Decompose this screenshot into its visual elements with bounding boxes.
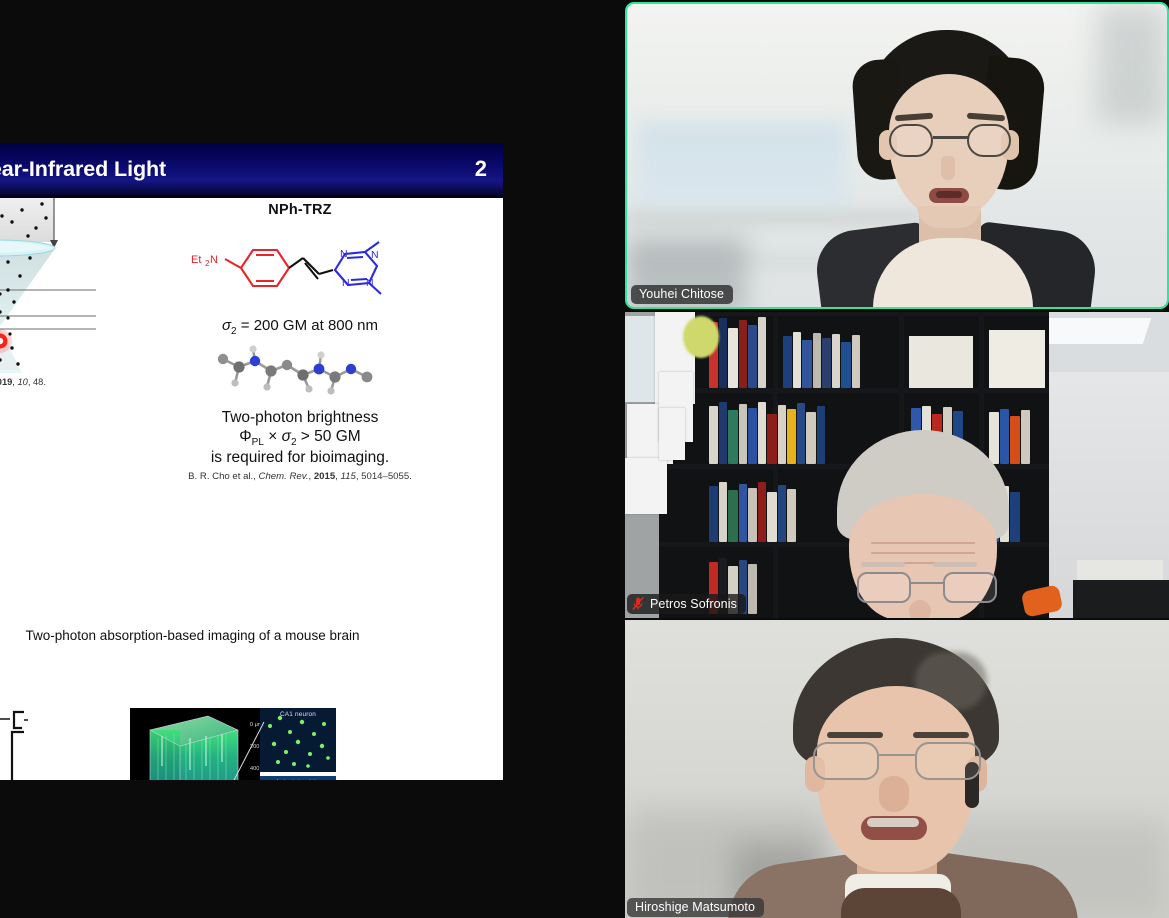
participant-tile-youhei-chitose[interactable]: Youhei Chitose [625,2,1169,309]
panel-label: Apical dendrite [260,779,336,780]
svg-text:N: N [366,277,374,289]
person-figure [765,638,1033,918]
video-feed [625,312,1169,618]
mic-muted-icon [631,596,645,611]
donor-group-label: Et [191,254,201,266]
svg-text:N: N [342,277,350,289]
one-photon-note: Observable area with one-photon absorpti… [0,718,2,780]
presentation-slide[interactable]: patible Near-Infrared Light 2 [0,143,503,780]
molecule-name: NPh-TRZ [110,202,490,218]
lens-citation: C. R Ellis-Davies et al., nt. Synaptic N… [0,365,46,388]
person-figure [837,430,1009,618]
brain-detail-panels: CA1 neuron Apical dend [260,708,336,780]
lens-citation-line1: C. R Ellis-Davies et al., [0,365,46,377]
panel-apical-dendrite: Apical dendrite [260,776,336,780]
slide-header: patible Near-Infrared Light 2 [0,143,503,195]
participant-name: Hiroshige Matsumoto [635,900,755,914]
slide-title: patible Near-Infrared Light [0,157,166,182]
slide-body: lens Photons (hv) Focal plane C. R Ellis… [0,198,503,780]
molecule-ballstick-model [205,341,395,405]
participant-name-badge: Hiroshige Matsumoto [627,898,764,917]
brightness-requirement: is required for bioimaging. [110,449,490,468]
panel-label: CA1 neuron [260,711,336,718]
glasses [885,124,1017,158]
molecule-citation: B. R. Cho et al., Chem. Rev., 2015, 115,… [110,471,490,482]
participant-video-strip: Youhei Chitose [625,0,1169,918]
svg-text:N: N [371,249,379,261]
participant-name-badge: Petros Sofronis [627,594,746,614]
participant-name: Petros Sofronis [650,597,737,611]
video-feed [627,4,1167,307]
participant-tile-petros-sofronis[interactable]: Petros Sofronis [625,312,1169,618]
screen-share-area[interactable]: patible Near-Infrared Light 2 [0,0,620,918]
brain-figure: Observable area with one-photon absorpti… [0,656,503,780]
lens-citation-line2: nt. Synaptic Neurosci., 2019, 10, 48. [0,377,46,389]
lens-photon-diagram: lens Photons (hv) Focal plane C. R Ellis… [0,198,106,398]
cross-section-line: σ2 = 200 GM at 800 nm [110,317,490,337]
wall-papers [625,312,729,542]
svg-text:N: N [210,254,218,266]
brain-section-title: Two-photon absorption-based imaging of a… [0,628,503,643]
brightness-title: Two-photon brightness [110,409,490,428]
participant-tile-hiroshige-matsumoto[interactable]: Hiroshige Matsumoto [625,620,1169,918]
cross-section-wavelength: 800 nm [328,317,378,334]
bracket-leader-1 [0,716,10,722]
video-feed [625,620,1169,918]
zoom-meeting-window: patible Near-Infrared Light 2 [0,0,1169,918]
slide-page-number: 2 [475,156,487,182]
panel-leader-lines [230,712,266,780]
molecule-column: NPh-TRZ Et 2 N [110,202,490,482]
cross-section-value: 200 GM [254,317,307,334]
molecule-structure-svg: Et 2 N [185,228,415,308]
panel-ca1-neuron: CA1 neuron [260,708,336,772]
participant-name: Youhei Chitose [639,287,724,301]
participant-name-badge: Youhei Chitose [631,285,733,304]
two-photon-brightness-block: Two-photon brightness ΦPL × σ2 > 50 GM i… [110,409,490,468]
brightness-equation: ΦPL × σ2 > 50 GM [110,428,490,449]
glasses [857,572,997,606]
svg-text:N: N [340,248,348,260]
lens-diagram-svg: lens [0,198,106,373]
person-figure [833,30,1081,307]
